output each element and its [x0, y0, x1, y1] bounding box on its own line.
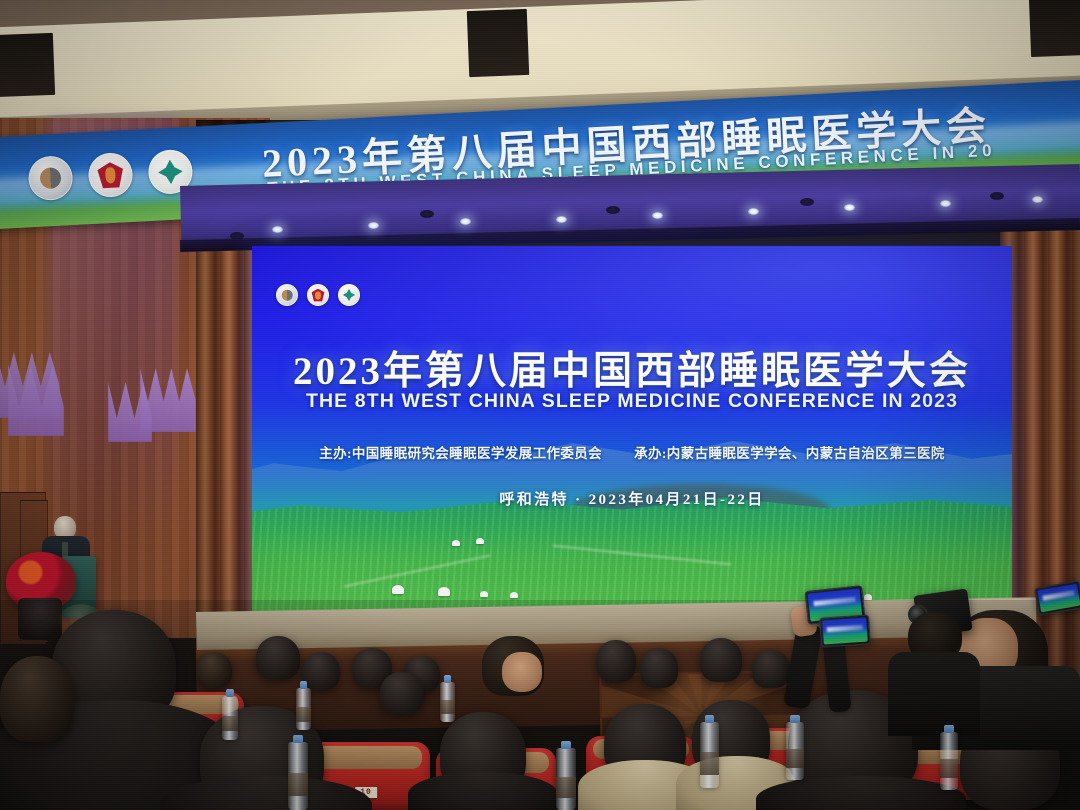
bottle-cap: [300, 681, 308, 689]
audience-head: [596, 640, 636, 682]
bottle-cap: [705, 715, 715, 723]
bottle-label: [222, 716, 238, 731]
phone-screen: [822, 617, 868, 644]
led-yurt: [480, 591, 488, 597]
ceiling-downlight: [652, 212, 663, 219]
acoustic-panel: [0, 33, 55, 97]
led-title-en: THE 8TH WEST CHINA SLEEP MEDICINE CONFER…: [252, 390, 1012, 413]
led-yurt: [476, 538, 484, 544]
smartphone-recording[interactable]: [819, 614, 871, 647]
bottle-cap: [293, 735, 303, 743]
bottle-cap: [944, 725, 953, 733]
audience-head: [752, 650, 790, 688]
ceiling-downlight: [556, 216, 567, 223]
audience-head: [0, 656, 74, 742]
sleep-research-society-emblem: [276, 284, 298, 306]
led-co-organizer: 承办:内蒙古睡眠医学学会、内蒙古自治区第三医院: [634, 446, 945, 461]
ceiling-downlight: [844, 204, 855, 211]
audience-head: [380, 672, 424, 714]
sleep-research-society-emblem: [27, 155, 73, 201]
led-yurt: [438, 587, 450, 596]
led-yurt: [510, 592, 518, 598]
audience-head: [640, 648, 678, 688]
audience-shoulders: [408, 772, 558, 810]
bottle-label: [440, 700, 455, 714]
ceiling-downlight: [748, 208, 759, 215]
banner-logo-group: [27, 149, 193, 202]
phone-screen: [1037, 584, 1080, 613]
water-bottle[interactable]: [296, 688, 311, 730]
led-yurt: [392, 585, 404, 594]
bottle-cap: [226, 689, 234, 697]
audience-face: [502, 652, 542, 692]
ceiling-downlight-off: [800, 198, 814, 206]
bottle-label: [556, 777, 576, 798]
medical-association-emblem: [307, 284, 329, 306]
led-logo-group: [276, 284, 360, 306]
bottle-cap: [790, 715, 799, 723]
bottle-label: [786, 749, 804, 769]
ceiling-downlight-off: [990, 192, 1004, 200]
bottle-label: [288, 773, 308, 796]
ceiling-downlight: [272, 226, 283, 233]
ceiling-downlight: [1032, 196, 1043, 203]
water-bottle[interactable]: [786, 722, 804, 780]
audience-head: [302, 652, 340, 690]
seat-headrest: [310, 746, 423, 769]
ceiling-downlight: [940, 200, 951, 207]
led-yurt: [452, 540, 460, 546]
water-bottle[interactable]: [288, 742, 308, 810]
acoustic-panel: [1029, 0, 1080, 57]
bottle-cap: [444, 675, 452, 683]
ceiling-downlight: [368, 222, 379, 229]
hospital-emblem: [338, 284, 360, 306]
audience-head: [256, 636, 300, 680]
ceiling-downlight-off: [606, 206, 620, 214]
conference-hall-scene: 2023年第八届中国西部睡眠医学大会 THE 8TH WEST CHINA SL…: [0, 0, 1080, 810]
ceiling-downlight-off: [230, 232, 244, 240]
bottle-label: [940, 759, 958, 779]
led-title-cn: 2023年第八届中国西部睡眠医学大会: [252, 340, 1012, 396]
led-organizers: 主办:中国睡眠研究会睡眠医学发展工作委员会承办:内蒙古睡眠医学学会、内蒙古自治区…: [252, 442, 1012, 462]
water-bottle[interactable]: [440, 682, 455, 722]
medical-association-emblem: [87, 152, 133, 198]
water-bottle[interactable]: [222, 696, 238, 740]
water-bottle[interactable]: [940, 732, 958, 790]
videographer-body: [888, 652, 980, 736]
acoustic-panel: [467, 9, 529, 77]
bottle-label: [700, 752, 719, 774]
led-stage-screen: 2023年第八届中国西部睡眠医学大会 THE 8TH WEST CHINA SL…: [252, 246, 1012, 618]
ceiling-downlight-off: [420, 210, 434, 218]
led-location-date: 呼和浩特 · 2023年04月21日-22日: [252, 488, 1012, 509]
audience-head: [700, 638, 742, 682]
bottle-label: [296, 707, 311, 721]
water-bottle[interactable]: [556, 748, 576, 810]
audience-head: [196, 652, 232, 688]
bottle-cap: [561, 741, 571, 749]
water-bottle[interactable]: [700, 722, 719, 788]
ceiling-downlight: [460, 218, 471, 225]
led-organizer: 主办:中国睡眠研究会睡眠医学发展工作委员会: [319, 446, 602, 461]
